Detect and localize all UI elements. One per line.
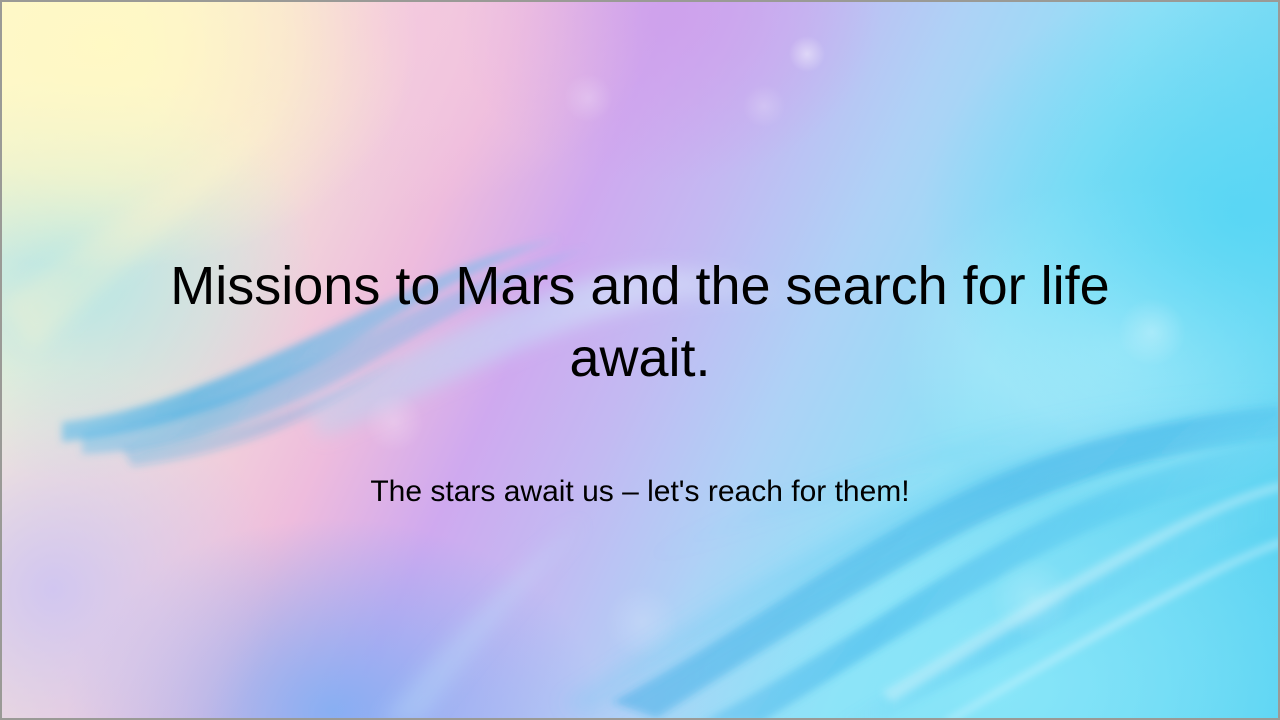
subtitle-block: The stars await us – let's reach for the…: [122, 472, 1158, 512]
title-block: Missions to Mars and the search for life…: [102, 250, 1178, 394]
slide-content: Missions to Mars and the search for life…: [2, 2, 1278, 718]
page-title: Missions to Mars and the search for life…: [102, 250, 1178, 394]
slide-subtitle: The stars await us – let's reach for the…: [122, 472, 1158, 512]
presentation-slide: Missions to Mars and the search for life…: [0, 0, 1280, 720]
